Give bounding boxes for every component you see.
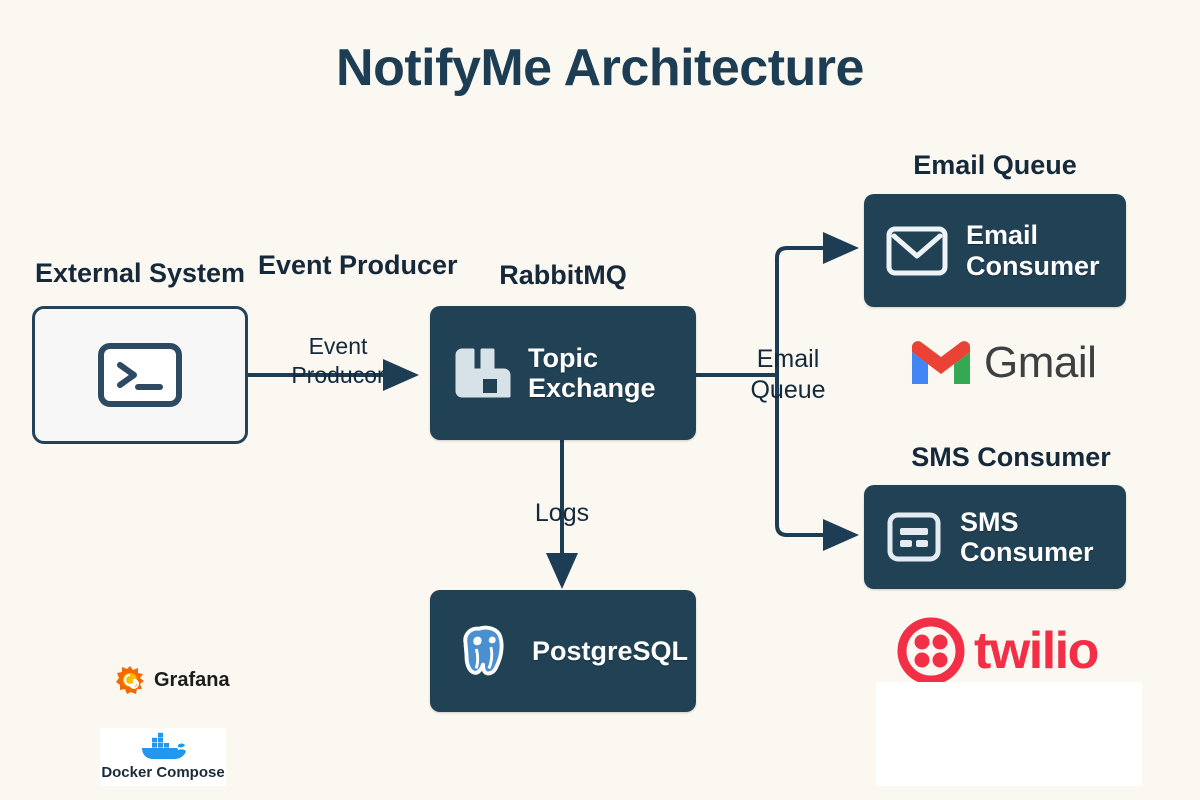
docker-compose-wordmark: Docker Compose — [101, 764, 224, 781]
docker-compose-logo: Docker Compose — [100, 728, 226, 786]
sms-consumer-heading: SMS Consumer — [864, 442, 1158, 472]
edge-label-email-queue: Email Queue — [728, 344, 848, 407]
rabbitmq-icon — [452, 344, 510, 402]
external-system-heading: External System — [20, 258, 260, 288]
grafana-icon — [116, 666, 144, 694]
grafana-wordmark: Grafana — [154, 669, 230, 692]
grafana-logo: Grafana — [116, 666, 230, 694]
external-system-box[interactable] — [32, 306, 248, 444]
topic-exchange-label: Topic Exchange — [528, 343, 656, 403]
terminal-icon — [98, 343, 182, 407]
rabbitmq-heading: RabbitMQ — [430, 260, 696, 290]
docker-whale-icon — [138, 734, 188, 762]
event-producer-heading: Event Producer — [258, 250, 418, 280]
postgresql-label: PostgreSQL — [532, 636, 688, 666]
edge-label-event-producer: Event Producor — [258, 332, 418, 390]
email-consumer-node[interactable]: Email Consumer — [864, 194, 1126, 307]
topic-exchange-node[interactable]: Topic Exchange — [430, 306, 696, 440]
twilio-icon — [898, 618, 964, 684]
email-queue-heading: Email Queue — [864, 150, 1126, 180]
architecture-diagram: NotifyMe Architecture External System Ev… — [0, 0, 1200, 800]
sms-message-icon — [886, 511, 942, 563]
gmail-icon — [908, 338, 974, 388]
postgresql-node[interactable]: PostgreSQL — [430, 590, 696, 712]
gmail-logo: Gmail — [908, 338, 1096, 388]
empty-white-panel — [876, 682, 1142, 786]
twilio-logo: twilio — [898, 618, 1098, 684]
envelope-icon — [886, 226, 948, 276]
postgresql-elephant-icon — [452, 620, 514, 682]
sms-consumer-label: SMS Consumer — [960, 507, 1094, 567]
sms-consumer-node[interactable]: SMS Consumer — [864, 485, 1126, 589]
edge-label-logs: Logs — [492, 498, 632, 529]
gmail-wordmark: Gmail — [984, 338, 1096, 388]
email-consumer-label: Email Consumer — [966, 220, 1100, 280]
twilio-wordmark: twilio — [974, 621, 1098, 681]
